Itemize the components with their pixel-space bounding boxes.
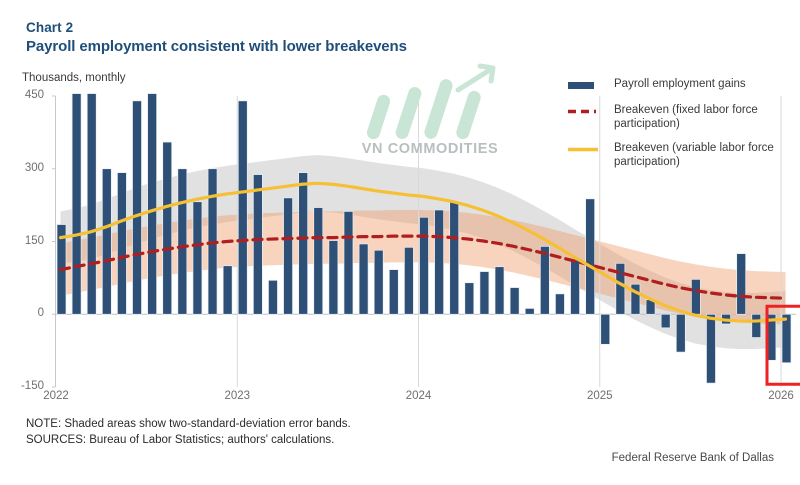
legend-swatch-dashed-line-icon [566, 106, 606, 117]
bar [465, 283, 474, 315]
bar [480, 272, 489, 315]
bar [178, 169, 187, 315]
bar [223, 266, 232, 315]
legend-item-breakeven-fixed: Breakeven (fixed labor force participati… [566, 104, 800, 131]
bar [540, 246, 549, 314]
chart-legend: Payroll employment gains Breakeven (fixe… [566, 78, 800, 180]
bar [268, 280, 277, 314]
bar [737, 254, 746, 315]
legend-label-breakeven-variable: Breakeven (variable labor force particip… [614, 142, 800, 169]
bar [495, 267, 504, 315]
x-tick-2024: 2024 [389, 390, 449, 402]
bar [344, 211, 353, 314]
chart-note: NOTE: Shaded areas show two-standard-dev… [26, 418, 351, 430]
bar [420, 217, 429, 314]
bar [117, 173, 126, 315]
bar [102, 169, 111, 315]
bar [148, 94, 157, 315]
bar [450, 202, 459, 315]
legend-item-payroll-gains: Payroll employment gains [566, 78, 800, 93]
bar [253, 175, 262, 315]
bar [525, 308, 534, 314]
bar [706, 314, 715, 383]
watermark-text: VN COMMODITIES [330, 141, 530, 157]
bar [133, 101, 142, 314]
bar [404, 247, 413, 314]
legend-swatch-bar-icon [566, 80, 606, 91]
chart-page: Chart 2 Payroll employment consistent wi… [0, 0, 800, 485]
bar [601, 314, 610, 344]
x-tick-2026: 2026 [751, 390, 800, 402]
bar [87, 94, 96, 315]
bar [314, 208, 323, 315]
chart-sources: SOURCES: Bureau of Labor Statistics; aut… [26, 434, 334, 446]
legend-swatch-solid-line-icon [566, 144, 606, 155]
y-tick-0: 0 [4, 307, 44, 319]
bar [284, 198, 293, 314]
y-tick-300: 300 [4, 162, 44, 174]
bar [359, 244, 368, 314]
bar [510, 288, 519, 315]
bar [661, 314, 670, 328]
bar [193, 202, 202, 315]
x-tick-2023: 2023 [207, 390, 267, 402]
bar [676, 314, 685, 352]
bar [435, 210, 444, 314]
bar [72, 94, 81, 315]
chart-attribution: Federal Reserve Bank of Dallas [0, 452, 774, 464]
y-tick-150: 150 [4, 235, 44, 247]
legend-label-breakeven-fixed: Breakeven (fixed labor force participati… [614, 104, 800, 131]
x-tick-2025: 2025 [570, 390, 630, 402]
x-tick-2022: 2022 [26, 390, 86, 402]
bar [586, 199, 595, 314]
chart-plot-area [0, 0, 800, 485]
chart-canvas [0, 0, 800, 485]
bar [329, 241, 338, 315]
bar [299, 173, 308, 315]
bar [691, 279, 700, 314]
bar [374, 250, 383, 314]
legend-item-breakeven-variable: Breakeven (variable labor force particip… [566, 142, 800, 169]
bar [555, 294, 564, 314]
bar [571, 260, 580, 314]
bar [752, 314, 761, 337]
bar [389, 270, 398, 315]
bar [238, 101, 247, 314]
y-tick-450: 450 [4, 89, 44, 101]
bar [163, 142, 172, 314]
bar [782, 314, 791, 363]
legend-label-payroll-gains: Payroll employment gains [614, 78, 800, 92]
